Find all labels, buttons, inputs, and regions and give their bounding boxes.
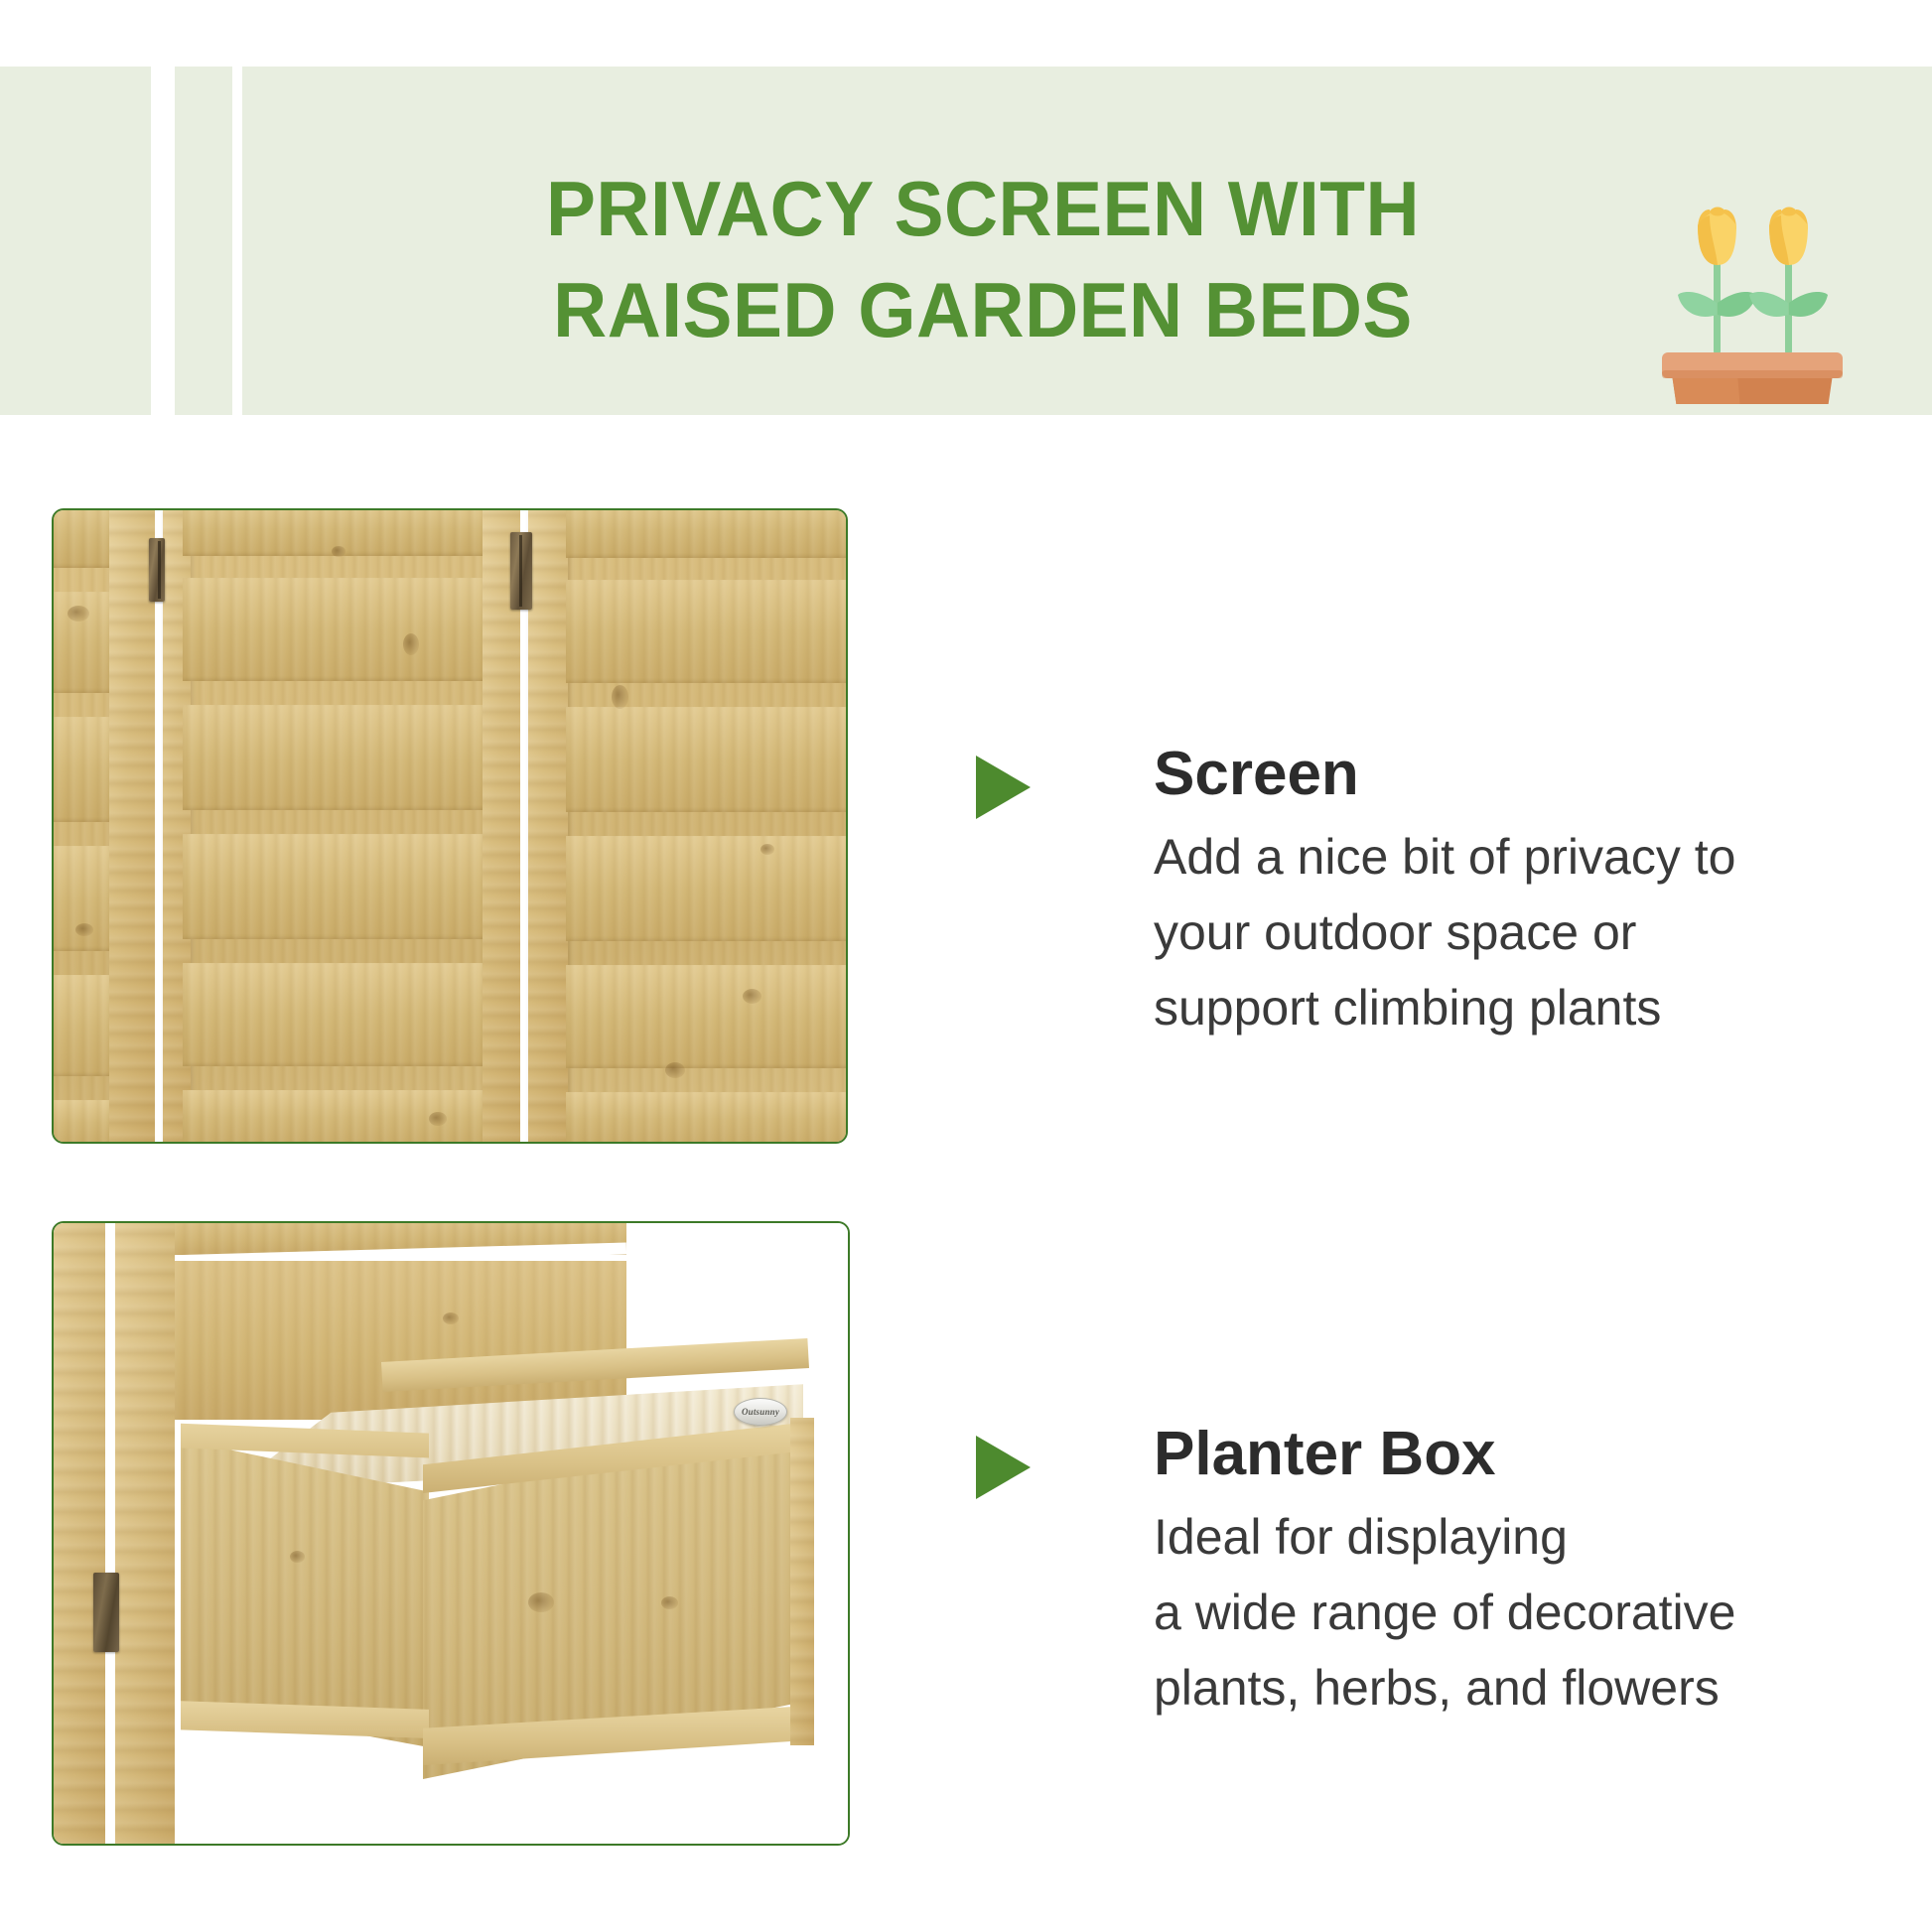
triangle-right-icon — [976, 1436, 1031, 1499]
brand-badge: Outsunny — [734, 1398, 787, 1426]
header-stripe-left — [0, 67, 151, 415]
hinge-icon — [93, 1573, 119, 1652]
feature-screen-text: Screen Add a nice bit of privacy to your… — [1154, 740, 1735, 1045]
feature-planter-box: Planter Box Ideal for displaying a wide … — [976, 1420, 1735, 1725]
feature-planter-box-body: Ideal for displaying a wide range of dec… — [1154, 1499, 1735, 1725]
hinge-icon — [510, 532, 532, 610]
brand-badge-label: Outsunny — [742, 1407, 779, 1417]
feature-screen-title: Screen — [1154, 740, 1735, 809]
flower-pot-with-tulips-icon — [1638, 186, 1866, 404]
planter-box-photo-content: Outsunny — [54, 1223, 848, 1844]
feature-screen-body-line-3: support climbing plants — [1154, 980, 1661, 1035]
feature-planter-box-body-line-3: plants, herbs, and flowers — [1154, 1660, 1720, 1716]
feature-screen-body-line-1: Add a nice bit of privacy to — [1154, 829, 1735, 885]
header-stripe-middle — [175, 67, 232, 415]
hinge-icon — [149, 538, 165, 602]
feature-planter-box-body-line-2: a wide range of decorative — [1154, 1585, 1735, 1640]
feature-planter-box-title: Planter Box — [1154, 1420, 1735, 1489]
feature-planter-box-body-line-1: Ideal for displaying — [1154, 1509, 1568, 1565]
page-title-line-1: PRIVACY SCREEN WITH — [421, 158, 1546, 259]
page-title: PRIVACY SCREEN WITH RAISED GARDEN BEDS — [397, 158, 1569, 360]
feature-planter-box-text: Planter Box Ideal for displaying a wide … — [1154, 1420, 1735, 1725]
feature-screen: Screen Add a nice bit of privacy to your… — [976, 740, 1735, 1045]
feature-screen-body: Add a nice bit of privacy to your outdoo… — [1154, 819, 1735, 1045]
triangle-right-icon — [976, 756, 1031, 819]
privacy-screen-photo-content — [54, 510, 846, 1142]
feature-screen-body-line-2: your outdoor space or — [1154, 904, 1636, 960]
header-banner: PRIVACY SCREEN WITH RAISED GARDEN BEDS — [0, 67, 1932, 415]
planter-box-photo: Outsunny — [52, 1221, 850, 1846]
page-title-line-2: RAISED GARDEN BEDS — [421, 259, 1546, 360]
privacy-screen-photo — [52, 508, 848, 1144]
